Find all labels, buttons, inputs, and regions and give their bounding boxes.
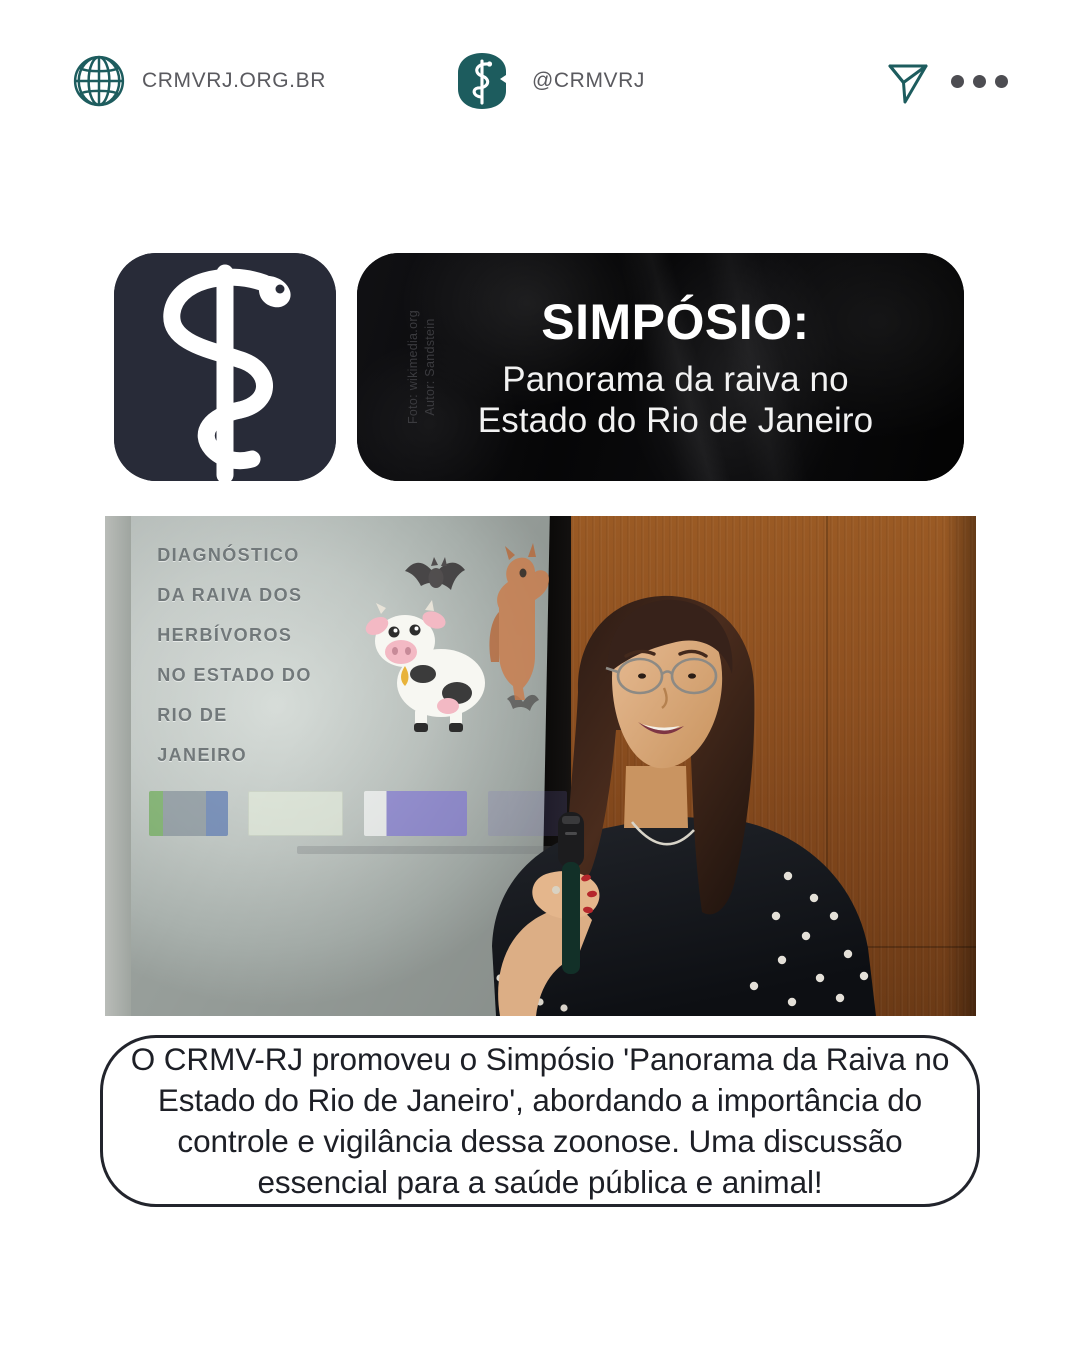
site-link[interactable]: CRMVRJ.ORG.BR xyxy=(72,38,326,124)
title-card: Foto: wikimedia.org Autor: Sandstein SIM… xyxy=(357,253,964,481)
caption-bubble: O CRMV-RJ promoveu o Simpósio 'Panorama … xyxy=(100,1035,980,1207)
ring xyxy=(552,886,560,894)
post-header: CRMVRJ.ORG.BR @CRMVRJ xyxy=(0,38,1080,124)
slide-logo-crmvrj xyxy=(149,791,228,836)
slide-logo-second xyxy=(248,791,343,836)
asclepius-rod-icon xyxy=(456,53,508,109)
post-canvas: CRMVRJ.ORG.BR @CRMVRJ xyxy=(0,0,1080,1350)
title-subtitle-line-1: Panorama da raiva no xyxy=(478,360,873,401)
title-subtitle-line-2: Estado do Rio de Janeiro xyxy=(478,401,873,442)
speaker-figure xyxy=(436,516,976,1016)
asclepius-rod-icon xyxy=(114,253,336,481)
header-actions xyxy=(885,38,1008,124)
more-options-icon[interactable] xyxy=(951,75,1008,88)
title-subtitle: Panorama da raiva no Estado do Rio de Ja… xyxy=(478,360,873,441)
site-label: CRMVRJ.ORG.BR xyxy=(142,69,326,93)
speaker-presenting-photo: DIAGNÓSTICO DA RAIVA DOS HERBÍVOROS NO E… xyxy=(105,516,976,1016)
account-handle[interactable]: @CRMVRJ xyxy=(456,38,645,124)
globe-icon xyxy=(72,54,126,108)
send-icon[interactable] xyxy=(885,58,931,104)
handle-label: @CRMVRJ xyxy=(532,69,645,93)
title-kicker: SIMPÓSIO: xyxy=(541,297,809,348)
crmvrj-logo-tile xyxy=(114,253,336,481)
caption-text: O CRMV-RJ promoveu o Simpósio 'Panorama … xyxy=(129,1039,951,1203)
